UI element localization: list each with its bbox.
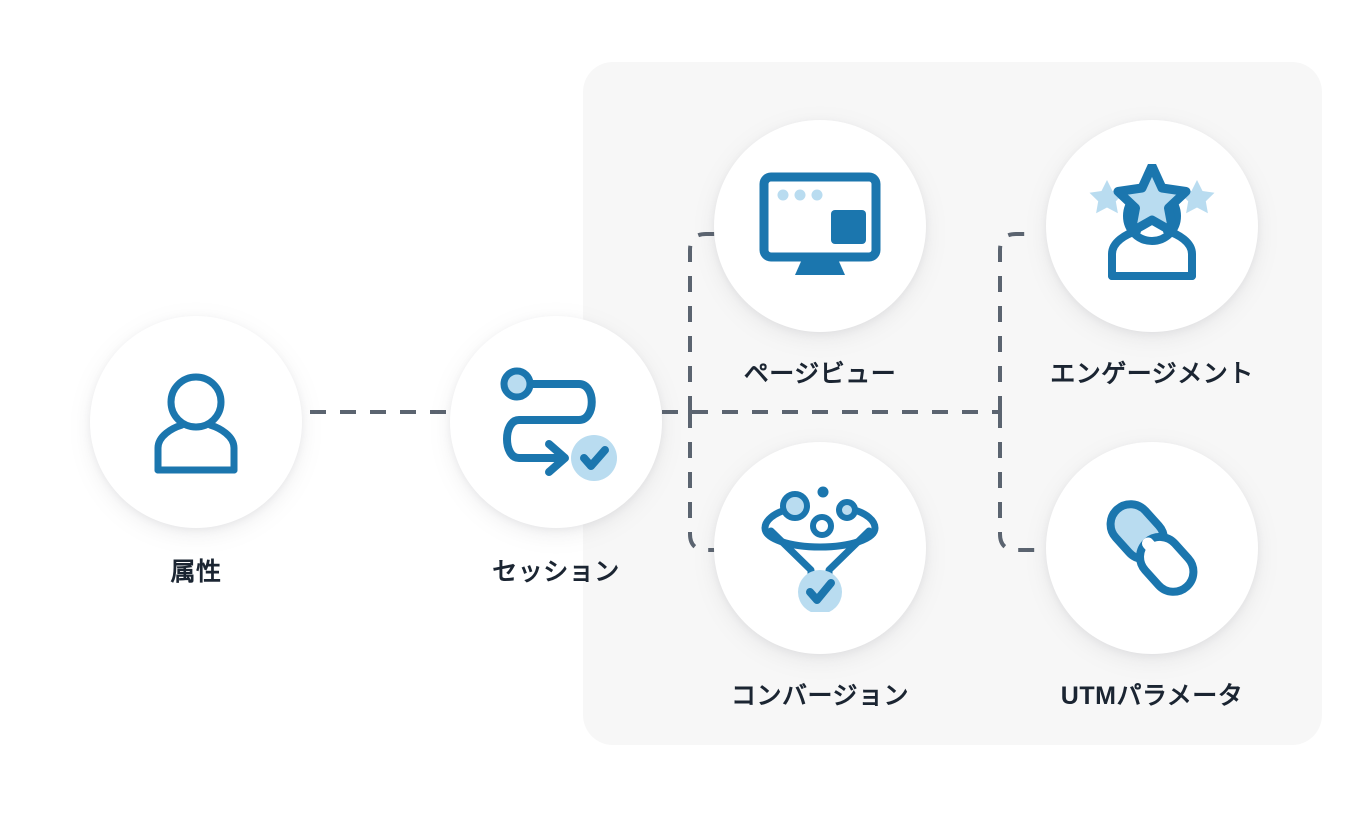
- node-utm-circle[interactable]: [1046, 442, 1258, 654]
- node-attribute-label: 属性: [90, 552, 302, 588]
- funnel-check-icon: [761, 484, 879, 612]
- diagram-canvas: 属性 セッション: [0, 0, 1366, 820]
- node-attribute-circle[interactable]: [90, 316, 302, 528]
- node-engagement[interactable]: エンゲージメント: [1046, 120, 1258, 390]
- node-session[interactable]: セッション: [450, 316, 662, 588]
- node-pageview[interactable]: ページビュー: [714, 120, 926, 390]
- node-engagement-label: エンゲージメント: [1046, 354, 1258, 390]
- node-utm-label: UTMパラメータ: [1046, 676, 1258, 712]
- node-pageview-circle[interactable]: [714, 120, 926, 332]
- node-session-circle[interactable]: [450, 316, 662, 528]
- chain-link-icon: [1096, 492, 1208, 604]
- session-path-check-icon: [491, 358, 621, 486]
- node-engagement-circle[interactable]: [1046, 120, 1258, 332]
- person-stars-icon: [1088, 164, 1216, 288]
- node-pageview-label: ページビュー: [714, 354, 926, 390]
- node-conversion-label: コンバージョン: [714, 676, 926, 712]
- node-utm[interactable]: UTMパラメータ: [1046, 442, 1258, 712]
- node-conversion-circle[interactable]: [714, 442, 926, 654]
- monitor-icon: [759, 172, 881, 280]
- node-attribute[interactable]: 属性: [90, 316, 302, 588]
- node-conversion[interactable]: コンバージョン: [714, 442, 926, 712]
- person-icon: [136, 362, 256, 482]
- node-session-label: セッション: [450, 552, 662, 588]
